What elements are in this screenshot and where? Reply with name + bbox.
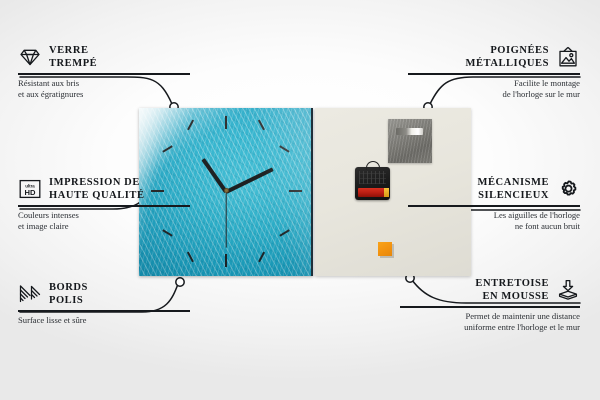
feature-sub-line1: Permet de maintenir une distance [400,311,580,322]
feature-sub-line2: uniforme entre l'horloge et le mur [400,322,580,333]
feature-sub-line1: Les aiguilles de l'horloge [408,210,580,221]
infographic-stage: VERRE TREMPÉ Résistant aux bris et aux é… [0,0,600,400]
feature-sub-line2: de l'horloge sur le mur [408,89,580,100]
feature-title-line2: HAUTE QUALITÉ [49,189,145,202]
hanger-slot [396,128,423,135]
callout-bords-polis: BORDS POLIS Surface lisse et sûre [18,281,190,326]
feature-title-line1: VERRE [49,44,97,57]
polished-edge-icon [18,282,42,306]
clock-mechanism [355,167,390,200]
callout-mecanisme-silencieux: MÉCANISME SILENCIEUX Les aiguilles de l'… [408,176,580,232]
callout-rule [400,306,580,307]
callout-rule [18,73,190,74]
callout-rule [18,205,190,206]
feature-title-line1: POIGNÉES [466,44,549,57]
feature-sub-line1: Couleurs intenses [18,210,190,221]
feature-sub-line2: et aux égratignures [18,89,190,100]
callout-rule [408,205,580,206]
feature-title-line2: SILENCIEUX [478,189,549,202]
metal-hanger [388,119,432,163]
callout-poignees-metalliques: POIGNÉES MÉTALLIQUES Facilite le montage… [408,44,580,100]
foam-spacer-icon [556,278,580,302]
mechanism-loop [366,161,380,170]
battery-tip [384,188,389,197]
svg-text:HD: HD [25,188,36,197]
feature-sub-line1: Facilite le montage [408,78,580,89]
foam-spacer [378,242,392,256]
ultra-hd-icon: ultra HD [18,177,42,201]
feature-sub-line1: Surface lisse et sûre [18,315,190,326]
battery [358,188,387,197]
feature-title-line2: POLIS [49,294,88,307]
callout-rule [18,310,190,311]
feature-sub-line2: et image claire [18,221,190,232]
callout-impression-haute-qualite: ultra HD IMPRESSION DE HAUTE QUALITÉ Cou… [18,176,190,232]
feature-title-line2: TREMPÉ [49,57,97,70]
feature-title-line1: ENTRETOISE [475,277,549,290]
diamond-icon [18,45,42,69]
callout-verre-trempe: VERRE TREMPÉ Résistant aux bris et aux é… [18,44,190,100]
mechanism-grid [359,171,386,184]
gear-icon [556,177,580,201]
feature-title-line2: EN MOUSSE [475,290,549,303]
feature-title-line1: MÉCANISME [478,176,549,189]
wall-frame-icon [556,45,580,69]
feature-sub-line1: Résistant aux bris [18,78,190,89]
callout-rule [408,73,580,74]
callout-entretoise-en-mousse: ENTRETOISE EN MOUSSE Permet de maintenir… [400,277,580,333]
feature-sub-line2: ne font aucun bruit [408,221,580,232]
feature-title-line1: IMPRESSION DE [49,176,145,189]
feature-title-line1: BORDS [49,281,88,294]
feature-title-line2: MÉTALLIQUES [466,57,549,70]
